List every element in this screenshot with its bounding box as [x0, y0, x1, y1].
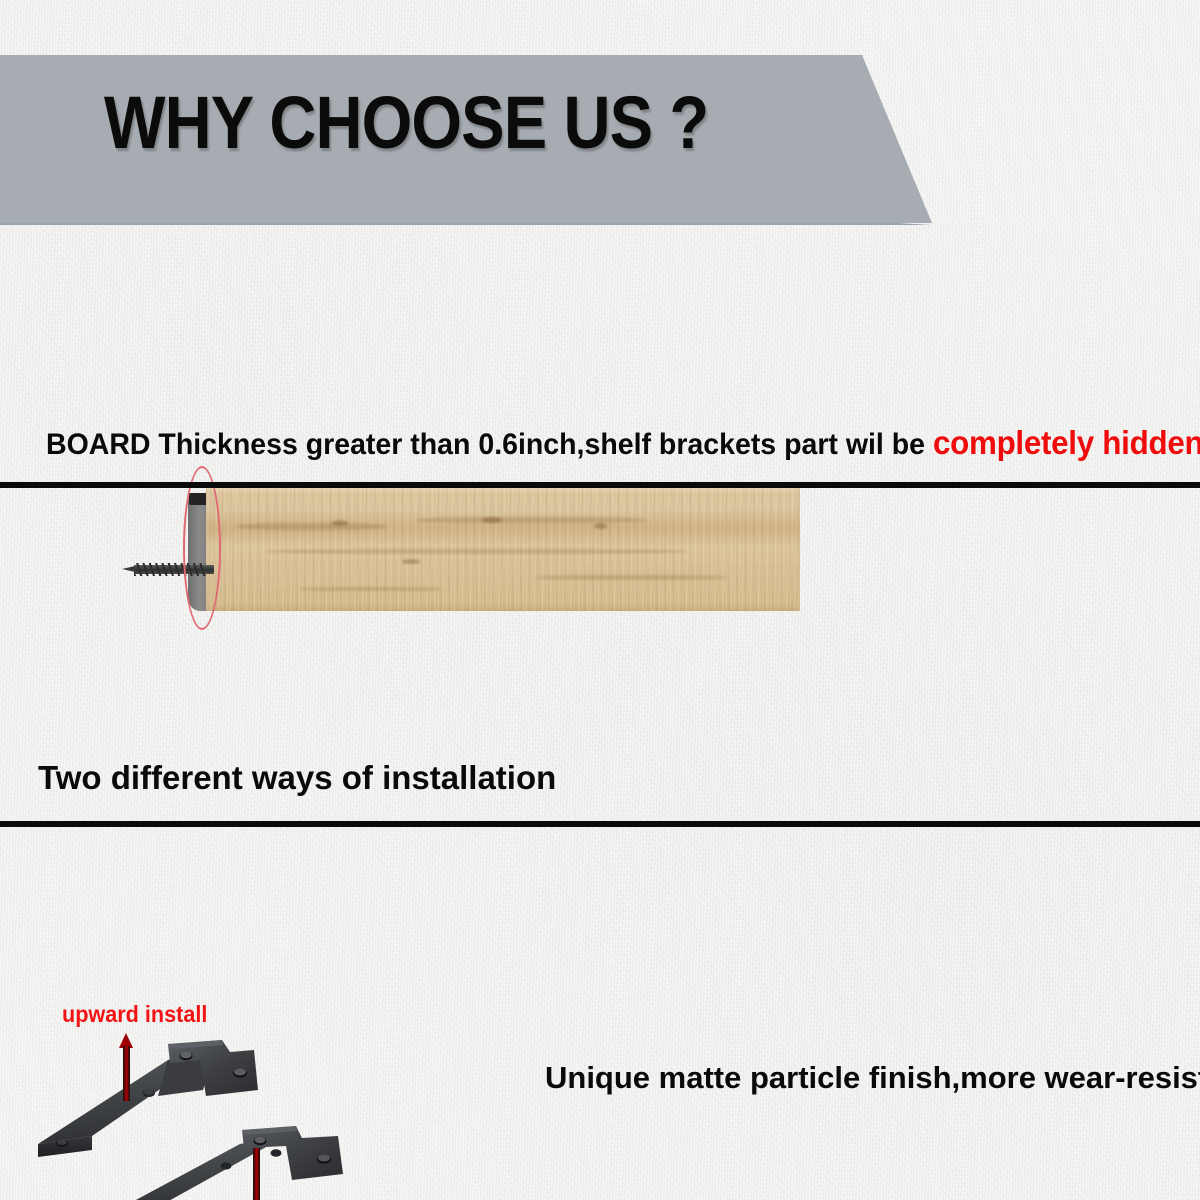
caption-installation-ways: Two different ways of installation	[38, 759, 556, 797]
page-title: WHY CHOOSE US ?	[104, 86, 708, 160]
caption-finish: Unique matte particle finish,more wear-r…	[545, 1060, 1200, 1096]
caption-board-thickness: BOARD Thickness greater than 0.6inch,she…	[46, 424, 1200, 462]
caption-board-thickness-text: BOARD Thickness greater than 0.6inch,she…	[46, 428, 925, 461]
section-finish	[0, 827, 1200, 1200]
caption-highlight-text: completely hidden	[933, 424, 1200, 461]
infographic-page: WHY CHOOSE US ?	[0, 0, 1200, 1200]
